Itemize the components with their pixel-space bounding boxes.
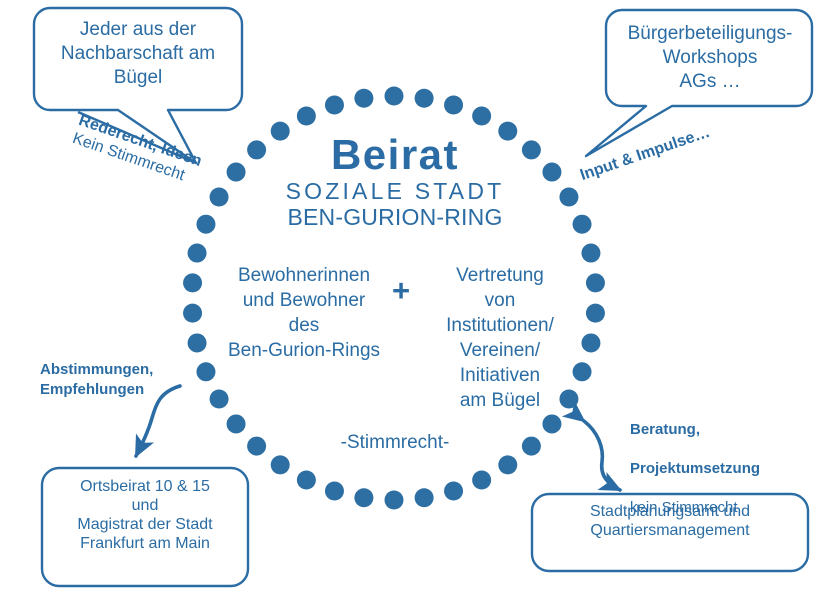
ring-dot [498,455,517,474]
arrow-beratung [584,421,620,490]
ring-dot [210,390,229,409]
bubble-top-right-label: Bürgerbeteiligungs- Workshops AGs … [612,22,808,93]
ring-dot [227,163,246,182]
center-column-left: Bewohnerinnen und Bewohner des Ben-Gurio… [218,263,390,363]
box-bottom-right-label: Stadtplanungsamt und Quartiersmanagement [536,503,804,541]
ring-dot [188,333,207,352]
center-subtitle-line-2: BEN-GURION-RING [260,204,530,231]
ring-dot [444,95,463,114]
connector-label-bottom-right-line-1: Beratung, [630,420,795,440]
ring-dot [522,437,541,456]
ring-dot [325,95,344,114]
ring-dot [586,273,605,292]
bubble-top-left-label: Jeder aus der Nachbarschaft am Bügel [40,18,236,89]
ring-dot [573,215,592,234]
ring-dot [196,215,215,234]
ring-dot [586,304,605,323]
ring-dot [247,437,266,456]
ring-dot [183,304,202,323]
ring-dot [385,491,404,510]
ring-dot [581,333,600,352]
ring-dot [444,482,463,501]
ring-dot [354,89,373,108]
connector-label-bottom-left: Abstimmungen, Empfehlungen [40,360,190,399]
center-footer-note: -Stimmrecht- [320,432,470,454]
ring-dot [325,482,344,501]
connector-label-top-right: Input & Impulse… [578,124,713,186]
center-title: Beirat [260,130,530,180]
ring-dot [188,244,207,263]
ring-dot [385,87,404,106]
ring-dot [297,107,316,126]
plus-symbol: + [386,275,416,306]
ring-dot [297,471,316,490]
ring-dot [415,488,434,507]
ring-dot [472,107,491,126]
connector-label-bottom-right-line-2: Projektumsetzung [630,459,795,479]
ring-dot [559,188,578,207]
ring-dot [415,89,434,108]
center-column-right: Vertretung von Institutionen/ Vereinen/ … [420,263,580,413]
ring-dot [183,273,202,292]
ring-dot [542,163,561,182]
ring-dot [581,244,600,263]
ring-dot [227,414,246,433]
connector-label-top-left: Rederecht, Ideen Kein Stimmrecht [70,112,204,190]
box-bottom-left-label: Ortsbeirat 10 & 15 und Magistrat der Sta… [46,478,244,554]
ring-dot [196,362,215,381]
ring-dot [354,488,373,507]
diagram-canvas: Jeder aus der Nachbarschaft am Bügel Bür… [0,0,820,600]
ring-dot [542,414,561,433]
center-subtitle-line-1: SOZIALE STADT [260,178,530,205]
ring-dot [210,188,229,207]
ring-dot [472,471,491,490]
ring-dot [271,455,290,474]
